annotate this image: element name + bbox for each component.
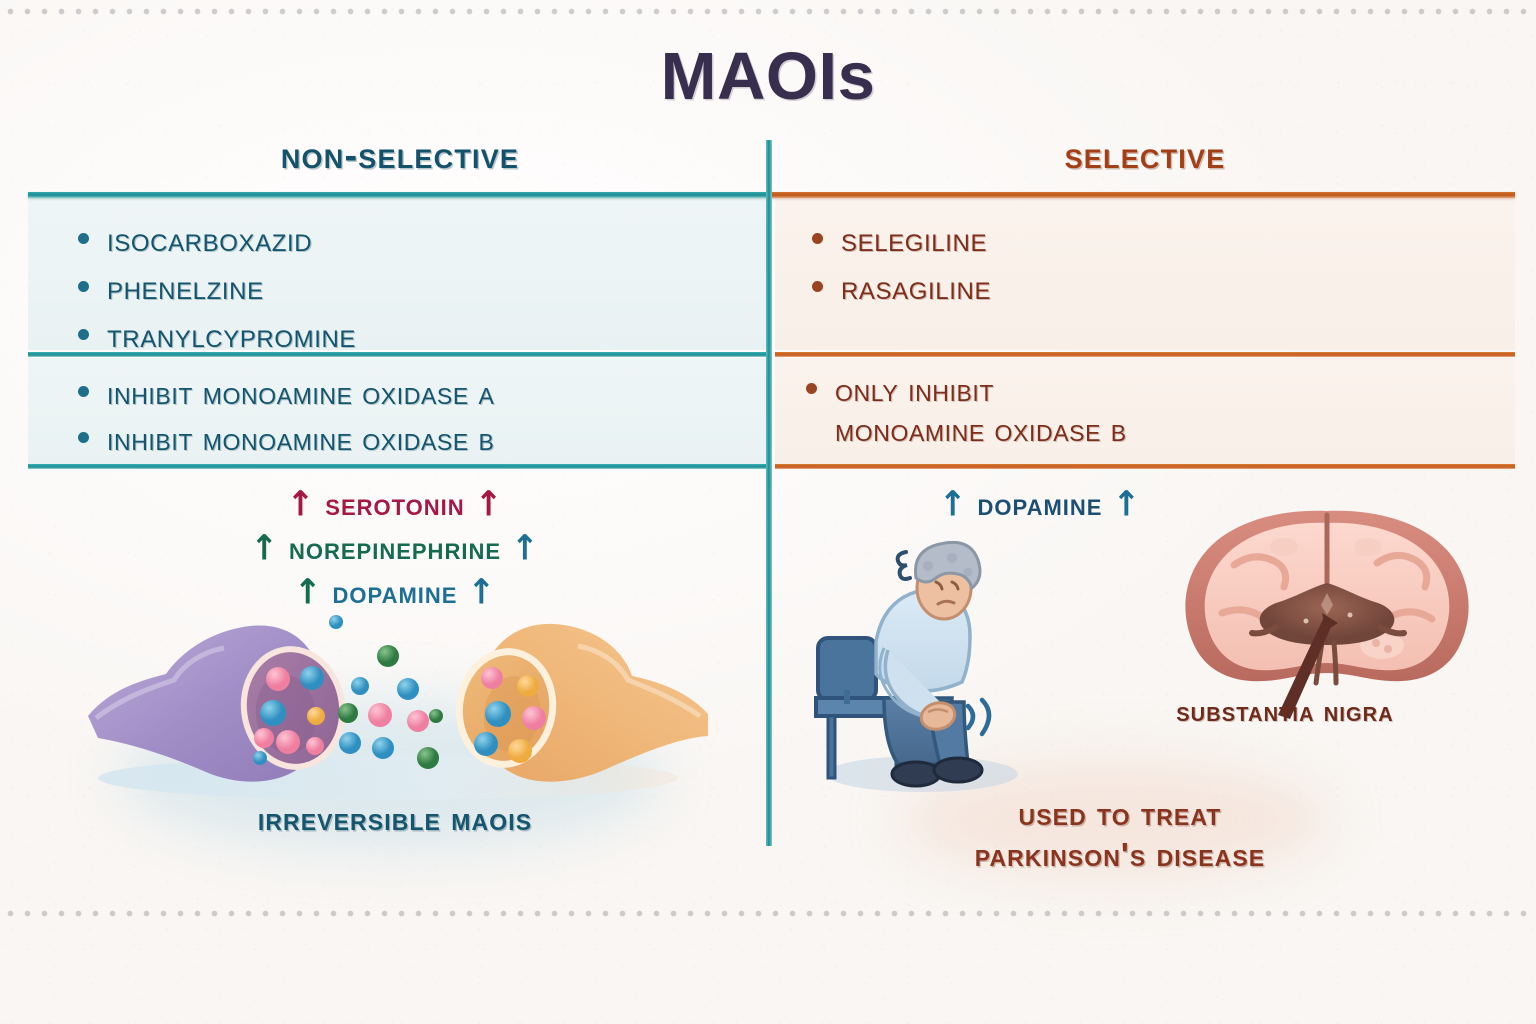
- column-header-non-selective: Non-Selective: [30, 135, 770, 178]
- bullet-dot: [78, 233, 89, 244]
- neurotransmitter-label: Serotonin: [325, 487, 464, 522]
- left-caption: Irreversible MAOIs: [30, 798, 760, 839]
- list-item: Tranylcypromine: [78, 314, 356, 358]
- neurotransmitter-serotonin: ↑Serotonin↑: [30, 482, 760, 526]
- left-mechanism-list: Inhibit monoamine oxidase A Inhibit mono…: [78, 372, 494, 464]
- substantia-nigra-label: Substantia Nigra: [1120, 694, 1450, 730]
- left-header-underline: [28, 192, 768, 198]
- right-row-divider-bottom: [775, 464, 1515, 469]
- right-neurotransmitter-list: ↑Dopamine↑: [790, 482, 1290, 526]
- up-arrow-icon: ↑: [1112, 481, 1141, 527]
- neurotransmitter-dopamine: ↑Dopamine↑: [30, 570, 760, 614]
- list-item: Selegiline: [812, 218, 991, 262]
- list-item: Phenelzine: [78, 266, 356, 310]
- bullet-dot: [78, 432, 89, 443]
- list-item: Inhibit monoamine oxidase B: [78, 418, 494, 460]
- up-arrow-icon: ↑: [467, 569, 496, 615]
- right-header-underline: [768, 192, 1515, 198]
- list-item: Only inhibit monoamine oxidase B: [806, 370, 1127, 451]
- drug-name: Isocarboxazid: [107, 218, 312, 262]
- list-item: Inhibit monoamine oxidase A: [78, 372, 494, 414]
- right-row-divider-middle: [775, 352, 1515, 357]
- bullet-dot: [78, 281, 89, 292]
- list-item: Isocarboxazid: [78, 218, 356, 262]
- infographic-canvas: MAOIs Non-Selective Selective Isocarboxa…: [0, 0, 1536, 1024]
- up-arrow-icon: ↑: [287, 481, 316, 527]
- drug-name: Rasagiline: [841, 266, 991, 310]
- bullet-dot: [812, 233, 823, 244]
- neurotransmitter-norepinephrine: ↑Norepinephrine↑: [30, 526, 760, 570]
- mechanism-text: Inhibit monoamine oxidase A: [107, 372, 494, 414]
- bullet-dot: [806, 383, 817, 394]
- bullet-dot: [812, 281, 823, 292]
- left-neurotransmitter-list: ↑Serotonin↑ ↑Norepinephrine↑ ↑Dopamine↑: [30, 482, 760, 615]
- list-item: Rasagiline: [812, 266, 991, 310]
- up-arrow-icon: ↑: [250, 525, 279, 571]
- drug-name: Selegiline: [841, 218, 987, 262]
- neurotransmitter-dopamine: ↑Dopamine↑: [790, 482, 1290, 526]
- left-drug-list: Isocarboxazid Phenelzine Tranylcypromine: [78, 218, 356, 363]
- drug-name: Tranylcypromine: [107, 314, 356, 358]
- top-dotted-border: [0, 8, 1536, 15]
- up-arrow-icon: ↑: [939, 481, 968, 527]
- parkinsons-patient-figure: [792, 530, 1052, 802]
- column-header-selective: Selective: [775, 135, 1515, 178]
- mechanism-text: Inhibit monoamine oxidase B: [107, 418, 494, 460]
- right-mechanism-list: Only inhibit monoamine oxidase B: [806, 370, 1127, 455]
- synapse-diagram: [88, 596, 708, 801]
- drug-name: Phenelzine: [107, 266, 264, 310]
- neurotransmitter-label: Norepinephrine: [289, 531, 501, 566]
- right-drug-list: Selegiline Rasagiline: [812, 218, 991, 314]
- neurotransmitter-label: Dopamine: [978, 487, 1103, 522]
- bullet-dot: [78, 386, 89, 397]
- up-arrow-icon: ↑: [511, 525, 540, 571]
- mechanism-text: Only inhibit monoamine oxidase B: [835, 370, 1127, 451]
- center-vertical-divider: [766, 140, 772, 846]
- up-arrow-icon: ↑: [294, 569, 323, 615]
- page-title: MAOIs: [0, 38, 1536, 115]
- bottom-dotted-border: [0, 910, 1536, 917]
- left-row-divider-bottom: [28, 464, 768, 469]
- neurotransmitter-label: Dopamine: [333, 575, 458, 610]
- bullet-dot: [78, 329, 89, 340]
- brain-cross-section: [1172, 505, 1482, 720]
- up-arrow-icon: ↑: [475, 481, 504, 527]
- right-caption: Used to treat Parkinson's Disease: [880, 793, 1360, 876]
